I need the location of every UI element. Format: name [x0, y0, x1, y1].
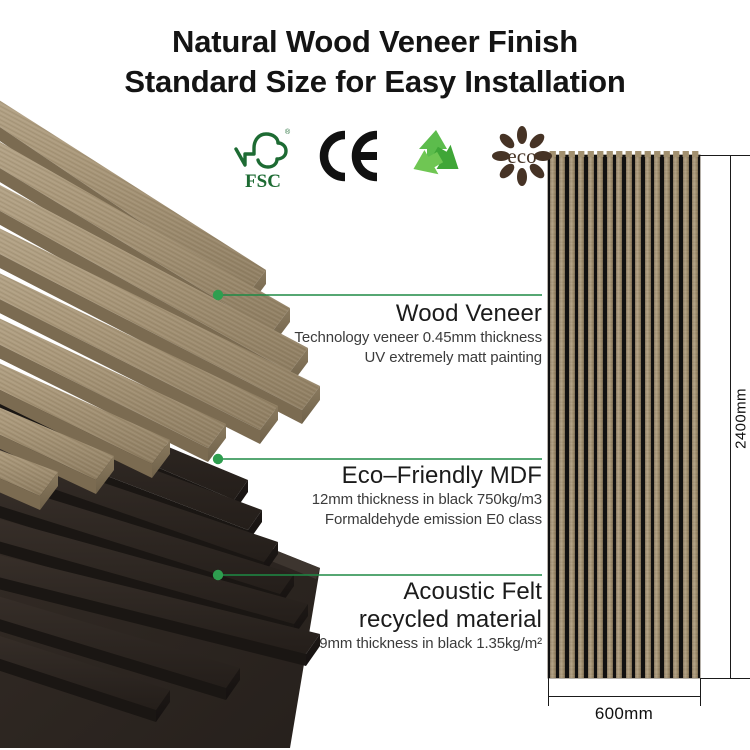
dim-line-width	[548, 696, 700, 697]
dim-line-height	[730, 155, 731, 678]
callout-sub2-eco-friendly-mdf: Formaldehyde emission E0 class	[212, 510, 542, 530]
panel-slat	[664, 155, 670, 678]
acoustic-panel-diagram: 2400mm 600mm	[520, 140, 750, 740]
panel-slat	[550, 155, 556, 678]
panel-slat	[588, 155, 594, 678]
fsc-icon: FSC ®	[232, 120, 294, 192]
callout-sub2-wood-veneer: UV extremely matt painting	[212, 348, 542, 368]
dim-ext-bottom	[700, 678, 750, 679]
panel-height-label: 2400mm	[733, 374, 750, 464]
panel-slat	[578, 155, 584, 678]
panel-slat-face	[548, 155, 700, 678]
certification-badge-row: FSC ®	[232, 118, 552, 194]
dim-ext-right	[700, 678, 701, 706]
leader-line-wood-veneer	[212, 288, 542, 302]
dim-ext-top	[700, 155, 750, 156]
svg-text:®: ®	[285, 128, 291, 136]
callout-sub1-wood-veneer: Technology veneer 0.45mm thickness	[212, 328, 542, 348]
panel-top-edge	[548, 151, 700, 157]
callout-title-eco-friendly-mdf: Eco–Friendly MDF	[212, 462, 542, 490]
panel-width-label: 600mm	[548, 704, 700, 724]
eco-icon: eco	[492, 125, 552, 187]
callout-acoustic-felt: Acoustic Felt recycled material 9mm thic…	[212, 568, 542, 654]
product-infographic: Natural Wood Veneer Finish Standard Size…	[0, 0, 750, 750]
callout-title-acoustic-felt: Acoustic Felt	[212, 578, 542, 606]
panel-slat	[673, 155, 679, 678]
panel-slat	[597, 155, 603, 678]
leader-line-acoustic-felt	[212, 568, 542, 582]
panel-slat	[569, 155, 575, 678]
callout-sub1-acoustic-felt: 9mm thickness in black 1.35kg/m²	[212, 634, 542, 654]
panel-slat	[654, 155, 660, 678]
callout-sub1-eco-friendly-mdf: 12mm thickness in black 750kg/m3	[212, 490, 542, 510]
panel-slat	[692, 155, 698, 678]
ce-icon	[319, 129, 381, 183]
panel-slat	[683, 155, 689, 678]
panel-slat	[607, 155, 613, 678]
callout-eco-friendly-mdf: Eco–Friendly MDF 12mm thickness in black…	[212, 452, 542, 530]
dim-ext-left	[548, 678, 549, 706]
eco-label: eco	[507, 144, 536, 168]
panel-slat	[626, 155, 632, 678]
panel-slat	[635, 155, 641, 678]
recycle-icon	[405, 125, 467, 187]
panel-slat	[645, 155, 651, 678]
callout-title-wood-veneer: Wood Veneer	[212, 300, 542, 328]
panel-slat	[616, 155, 622, 678]
leader-line-eco-friendly-mdf	[212, 452, 542, 466]
callout-title2-acoustic-felt: recycled material	[212, 606, 542, 634]
fsc-label: FSC	[245, 171, 281, 192]
panel-slat	[559, 155, 565, 678]
callout-wood-veneer: Wood Veneer Technology veneer 0.45mm thi…	[212, 288, 542, 368]
